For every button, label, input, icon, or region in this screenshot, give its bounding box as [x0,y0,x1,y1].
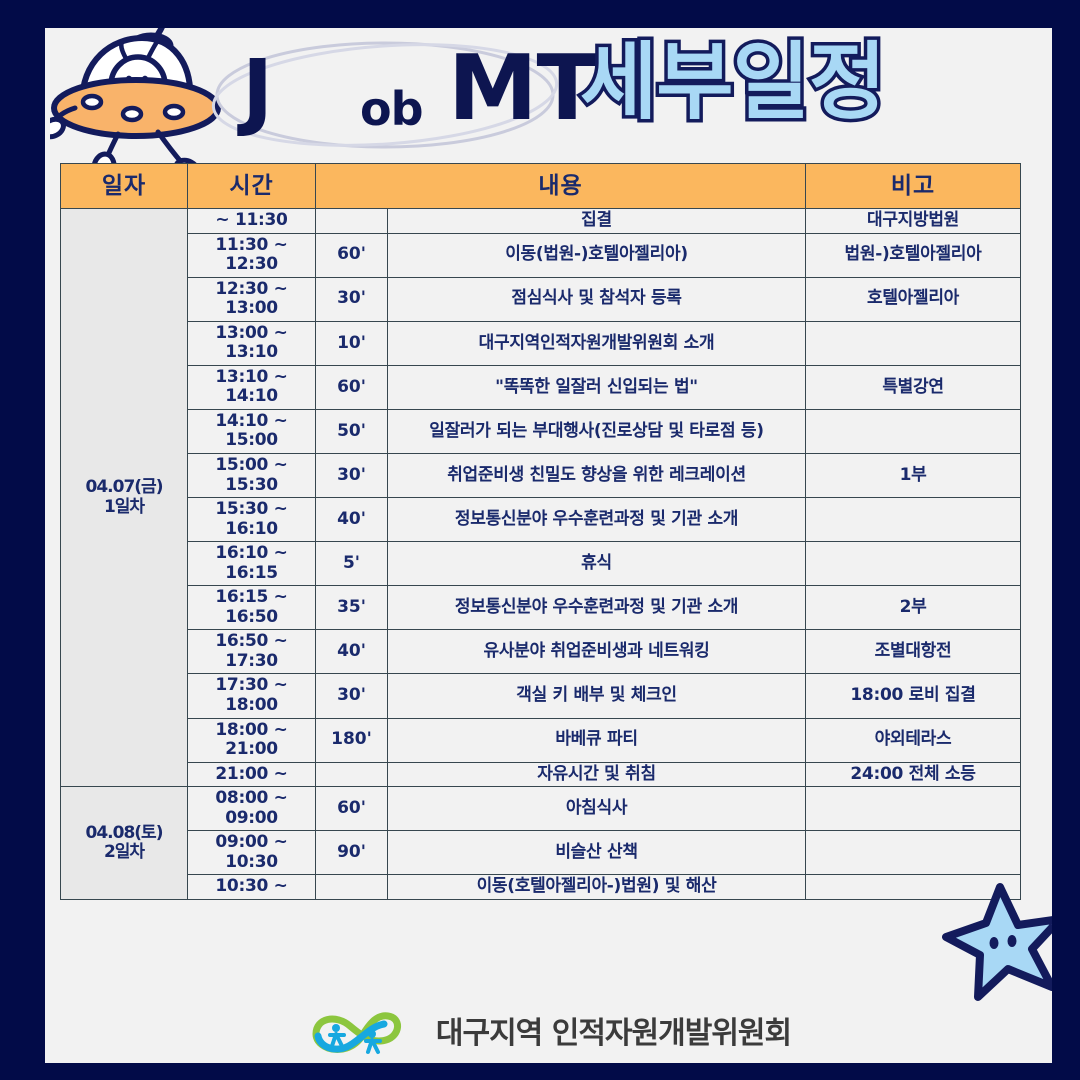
cell-time-15: 09:00 ~ 10:30 [188,831,316,875]
cell-duration-0 [316,209,388,234]
cell-remark-7 [806,498,1021,542]
header-date: 일자 [61,164,188,209]
cell-duration-15: 90' [316,831,388,875]
cell-remark-2: 호텔아젤리아 [806,277,1021,321]
cell-duration-8: 5' [316,542,388,586]
cell-content-1: 이동(법원-)호텔아젤리아) [388,233,806,277]
cell-time-1: 11:30 ~ 12:30 [188,233,316,277]
table-row: 16:15 ~ 16:5035'정보통신분야 우수훈련과정 및 기관 소개2부 [61,586,1021,630]
cell-remark-15 [806,831,1021,875]
cell-remark-3 [806,321,1021,365]
cell-time-8: 16:10 ~ 16:15 [188,542,316,586]
cell-content-8: 휴식 [388,542,806,586]
cell-time-14: 08:00 ~ 09:00 [188,787,316,831]
date-label-line1: 04.07(금) [64,478,184,498]
cell-duration-13 [316,762,388,787]
cell-remark-6: 1부 [806,454,1021,498]
cell-content-14: 아침식사 [388,787,806,831]
cell-duration-5: 50' [316,409,388,453]
cell-time-5: 14:10 ~ 15:00 [188,409,316,453]
title-korean: 세부일정 [580,40,885,124]
table-row: 16:10 ~ 16:155'휴식 [61,542,1021,586]
cell-time-10: 16:50 ~ 17:30 [188,630,316,674]
cell-duration-9: 35' [316,586,388,630]
cell-time-4: 13:10 ~ 14:10 [188,365,316,409]
cell-content-12: 바베큐 파티 [388,718,806,762]
table-row: 16:50 ~ 17:3040'유사분야 취업준비생과 네트워킹조별대항전 [61,630,1021,674]
cell-time-16: 10:30 ~ [188,875,316,900]
cell-date-day1: 04.07(금)1일차 [61,209,188,787]
cell-duration-4: 60' [316,365,388,409]
cell-duration-1: 60' [316,233,388,277]
date-label-line1: 04.08(토) [64,824,184,844]
cell-duration-10: 40' [316,630,388,674]
cell-content-16: 이동(호텔아젤리아-)법원) 및 해산 [388,875,806,900]
cell-duration-7: 40' [316,498,388,542]
cell-remark-8 [806,542,1021,586]
table-row: 17:30 ~ 18:0030'객실 키 배부 및 체크인18:00 로비 집결 [61,674,1021,718]
cell-remark-5 [806,409,1021,453]
ufo-alien-icon [50,28,225,185]
cell-remark-0: 대구지방법원 [806,209,1021,234]
cell-remark-9: 2부 [806,586,1021,630]
table-row: 09:00 ~ 10:3090'비슬산 산책 [61,831,1021,875]
table-row: 04.08(토)2일차08:00 ~ 09:0060'아침식사 [61,787,1021,831]
title-ob: ob [360,86,423,132]
cell-date-day2: 04.08(토)2일차 [61,787,188,900]
cell-duration-11: 30' [316,674,388,718]
table-row: 15:30 ~ 16:1040'정보통신분야 우수훈련과정 및 기관 소개 [61,498,1021,542]
cell-time-9: 16:15 ~ 16:50 [188,586,316,630]
header-duration: 내용 [316,164,806,209]
cell-time-7: 15:30 ~ 16:10 [188,498,316,542]
cell-content-4: "똑똑한 일잘러 신입되는 법" [388,365,806,409]
cell-duration-14: 60' [316,787,388,831]
cell-duration-2: 30' [316,277,388,321]
cell-remark-13: 24:00 전체 소등 [806,762,1021,787]
table-row: 13:10 ~ 14:1060'"똑똑한 일잘러 신입되는 법"특별강연 [61,365,1021,409]
poster-panel: J ob MT 세부일정 일자 시간 내용 비고 04. [45,28,1052,1063]
cell-duration-12: 180' [316,718,388,762]
infinity-people-logo-icon [306,1004,424,1056]
title-job: J [242,48,272,132]
cell-time-6: 15:00 ~ 15:30 [188,454,316,498]
cell-remark-10: 조별대항전 [806,630,1021,674]
table-row: 11:30 ~ 12:3060'이동(법원-)호텔아젤리아)법원-)호텔아젤리아 [61,233,1021,277]
date-label-line2: 1일차 [64,498,184,518]
table-header-row: 일자 시간 내용 비고 [61,164,1021,209]
table-row: 18:00 ~ 21:00180'바베큐 파티야외테라스 [61,718,1021,762]
footer-organization-name: 대구지역 인적자원개발위원회 [436,1008,791,1052]
star-character-icon [940,877,1052,1005]
cell-remark-1: 법원-)호텔아젤리아 [806,233,1021,277]
cell-content-11: 객실 키 배부 및 체크인 [388,674,806,718]
table-row: 13:00 ~ 13:1010'대구지역인적자원개발위원회 소개 [61,321,1021,365]
cell-time-13: 21:00 ~ [188,762,316,787]
schedule-table-body: 04.07(금)1일차~ 11:30집결대구지방법원11:30 ~ 12:306… [61,209,1021,900]
schedule-table: 일자 시간 내용 비고 04.07(금)1일차~ 11:30집결대구지방법원11… [60,163,1021,900]
cell-time-11: 17:30 ~ 18:00 [188,674,316,718]
cell-remark-11: 18:00 로비 집결 [806,674,1021,718]
table-row: 10:30 ~이동(호텔아젤리아-)법원) 및 해산 [61,875,1021,900]
table-row: 14:10 ~ 15:0050'일잘러가 되는 부대행사(진로상담 및 타로점 … [61,409,1021,453]
cell-duration-3: 10' [316,321,388,365]
cell-time-0: ~ 11:30 [188,209,316,234]
title-mt: MT [448,44,597,134]
cell-content-6: 취업준비생 친밀도 향상을 위한 레크레이션 [388,454,806,498]
cell-content-15: 비슬산 산책 [388,831,806,875]
table-row: 12:30 ~ 13:0030'점심식사 및 참석자 등록호텔아젤리아 [61,277,1021,321]
table-row: 15:00 ~ 15:3030'취업준비생 친밀도 향상을 위한 레크레이션1부 [61,454,1021,498]
poster-root: J ob MT 세부일정 일자 시간 내용 비고 04. [0,0,1080,1080]
cell-content-13: 자유시간 및 취침 [388,762,806,787]
cell-content-5: 일잘러가 되는 부대행사(진로상담 및 타로점 등) [388,409,806,453]
cell-time-2: 12:30 ~ 13:00 [188,277,316,321]
cell-content-3: 대구지역인적자원개발위원회 소개 [388,321,806,365]
header-content-label: 내용 [538,173,582,199]
cell-remark-14 [806,787,1021,831]
cell-content-2: 점심식사 및 참석자 등록 [388,277,806,321]
table-row: 04.07(금)1일차~ 11:30집결대구지방법원 [61,209,1021,234]
cell-content-7: 정보통신분야 우수훈련과정 및 기관 소개 [388,498,806,542]
cell-duration-6: 30' [316,454,388,498]
cell-remark-12: 야외테라스 [806,718,1021,762]
table-row: 21:00 ~자유시간 및 취침24:00 전체 소등 [61,762,1021,787]
header-time: 시간 [188,164,316,209]
cell-content-0: 집결 [388,209,806,234]
poster-title: J ob MT 세부일정 [210,30,1030,160]
cell-time-3: 13:00 ~ 13:10 [188,321,316,365]
cell-content-9: 정보통신분야 우수훈련과정 및 기관 소개 [388,586,806,630]
cell-remark-4: 특별강연 [806,365,1021,409]
cell-content-10: 유사분야 취업준비생과 네트워킹 [388,630,806,674]
cell-time-12: 18:00 ~ 21:00 [188,718,316,762]
poster-footer: 대구지역 인적자원개발위원회 [45,999,1052,1061]
poster-header: J ob MT 세부일정 [45,28,1052,168]
date-label-line2: 2일차 [64,843,184,863]
header-remark: 비고 [806,164,1021,209]
cell-duration-16 [316,875,388,900]
